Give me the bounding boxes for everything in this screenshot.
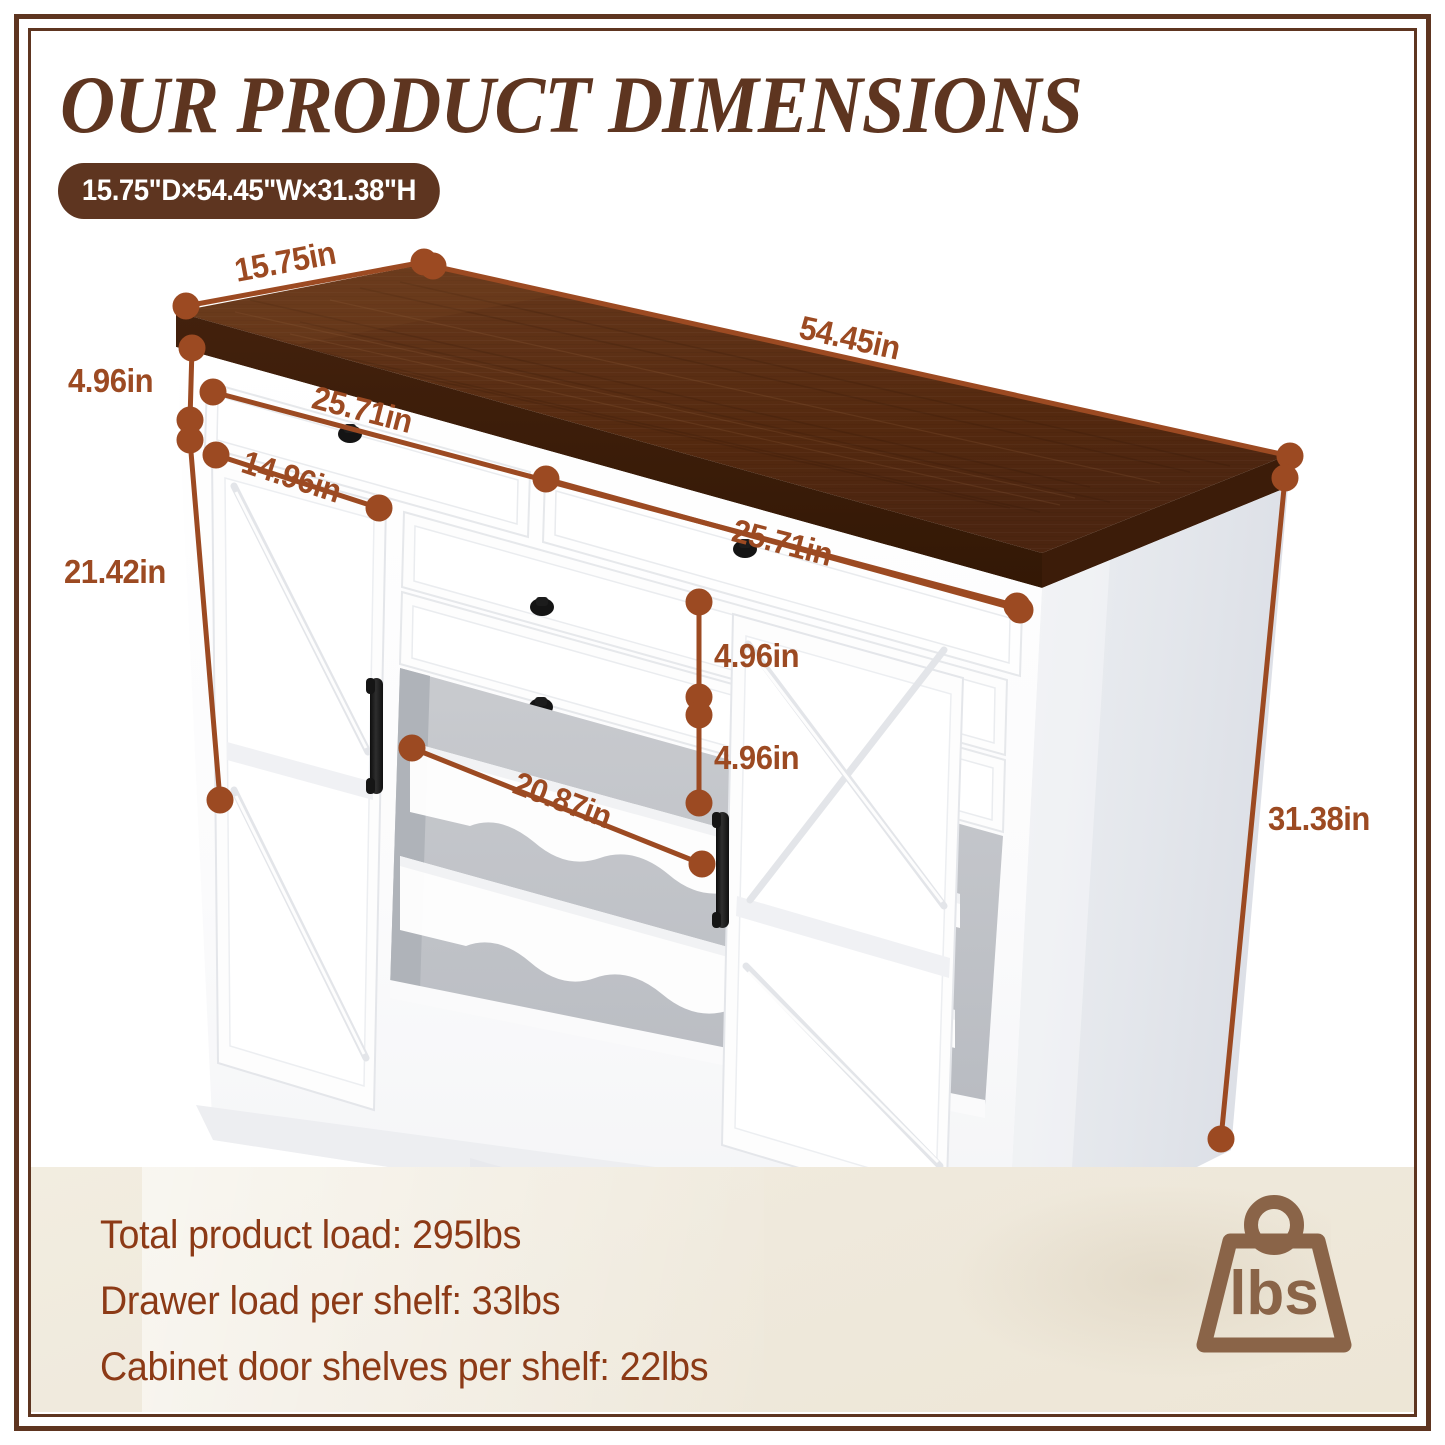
page-title: OUR PRODUCT DIMENSIONS — [60, 58, 1082, 152]
load-spec-drawer: Drawer load per shelf: 33lbs — [100, 1268, 708, 1334]
cabinet-side-panel — [1007, 487, 1288, 1262]
dimensions-badge: 15.75"D×54.45"W×31.38"H — [58, 163, 440, 219]
load-spec-list: Total product load: 295lbs Drawer load p… — [100, 1202, 747, 1400]
load-spec-cabinet: Cabinet door shelves per shelf: 22lbs — [100, 1334, 708, 1400]
weight-icon-label: lbs — [1229, 1259, 1319, 1328]
left-cabinet-door — [212, 456, 386, 1110]
load-spec-panel: Total product load: 295lbs Drawer load p… — [31, 1167, 1414, 1412]
weight-lbs-icon: lbs — [1194, 1189, 1354, 1357]
load-spec-total: Total product load: 295lbs — [100, 1202, 708, 1268]
right-cabinet-door — [712, 614, 963, 1212]
infographic-page: Total product load: 295lbs Drawer load p… — [0, 0, 1445, 1445]
